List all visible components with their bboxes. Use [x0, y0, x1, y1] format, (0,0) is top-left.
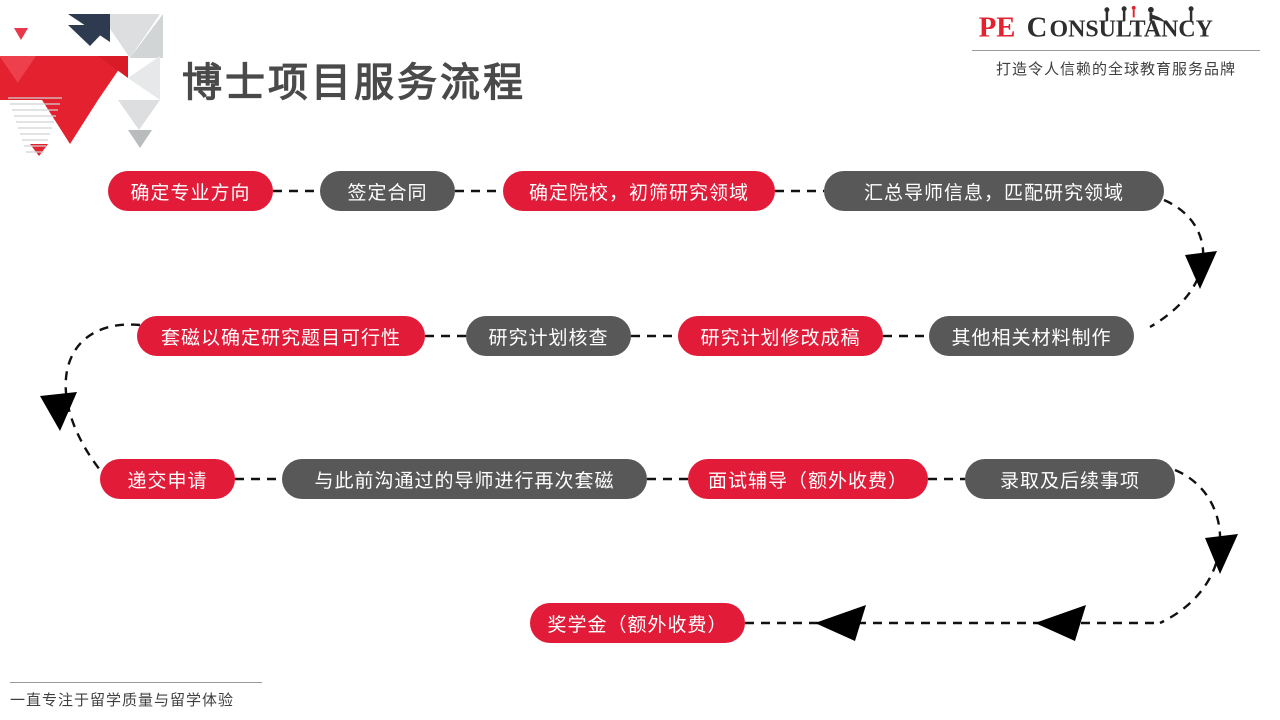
footer-divider [10, 682, 262, 683]
arrow-down-icon [40, 392, 77, 431]
svg-text:C: C [1026, 12, 1047, 44]
deco-triangle-gray-3 [128, 56, 160, 100]
dashed-connector-icon [235, 191, 1160, 623]
flow-step-pill[interactable]: 奖学金（额外收费） [530, 603, 745, 643]
arrow-down-icon [1185, 251, 1217, 289]
flow-step-pill[interactable]: 面试辅导（额外收费） [688, 459, 928, 499]
arrow-left-icon [815, 605, 866, 641]
arrow-down-icon [1205, 534, 1238, 574]
slide-canvas: 博士项目服务流程 PE C ONSULTANCY 打造令人信赖的全球教育服务品牌 [0, 0, 1280, 720]
wrap-curve-right-top [1150, 200, 1203, 327]
deco-triangle-red-2 [0, 56, 60, 100]
flow-step-pill[interactable]: 确定专业方向 [108, 171, 273, 211]
svg-text:PE: PE [978, 12, 1015, 44]
flow-step-pill[interactable]: 与此前沟通过的导师进行再次套磁 [282, 459, 647, 499]
flow-step-pill[interactable]: 录取及后续事项 [965, 459, 1175, 499]
deco-triangle-red-3 [0, 56, 30, 100]
deco-triangle-red-1 [14, 28, 28, 40]
deco-triangle-red-6 [30, 144, 48, 156]
deco-triangle-gray-1 [100, 14, 160, 58]
flow-step-pill[interactable]: 研究计划修改成稿 [678, 316, 883, 356]
deco-triangle-navy-2 [68, 14, 110, 42]
svg-text:ONSULTANCY: ONSULTANCY [1049, 17, 1212, 43]
wrap-curve-left [66, 325, 140, 470]
flow-step-pill[interactable]: 其他相关材料制作 [929, 316, 1134, 356]
page-title: 博士项目服务流程 [182, 50, 526, 108]
flow-step-pill[interactable]: 确定院校，初筛研究领域 [503, 171, 775, 211]
footer: 一直专注于留学质量与留学体验 [10, 682, 262, 710]
flow-step-pill[interactable]: 汇总导师信息，匹配研究领域 [824, 171, 1164, 211]
deco-triangle-red-4 [98, 56, 128, 78]
arrow-left-icon [1035, 605, 1086, 641]
brand-block: PE C ONSULTANCY 打造令人信赖的全球教育服务品牌 [966, 4, 1266, 79]
deco-triangle-gray-4 [118, 100, 160, 130]
decorative-geometric-corner [0, 0, 180, 160]
deco-triangle-gray-2 [130, 14, 163, 58]
pe-consultancy-logo-icon: PE C ONSULTANCY [973, 4, 1260, 48]
deco-triangle-gray-5 [128, 130, 152, 148]
deco-hatch-lines [8, 98, 62, 152]
deco-triangle-red-5 [42, 100, 98, 144]
flow-step-pill[interactable]: 套磁以确定研究题目可行性 [137, 316, 425, 356]
flow-step-pill[interactable]: 签定合同 [320, 171, 455, 211]
flow-step-pill[interactable]: 递交申请 [100, 459, 235, 499]
deco-parallelogram-red [6, 56, 128, 100]
brand-tagline: 打造令人信赖的全球教育服务品牌 [966, 51, 1266, 79]
footer-text: 一直专注于留学质量与留学体验 [10, 689, 262, 710]
flow-step-pill[interactable]: 研究计划核查 [466, 316, 631, 356]
deco-triangle-navy-1 [68, 25, 110, 46]
